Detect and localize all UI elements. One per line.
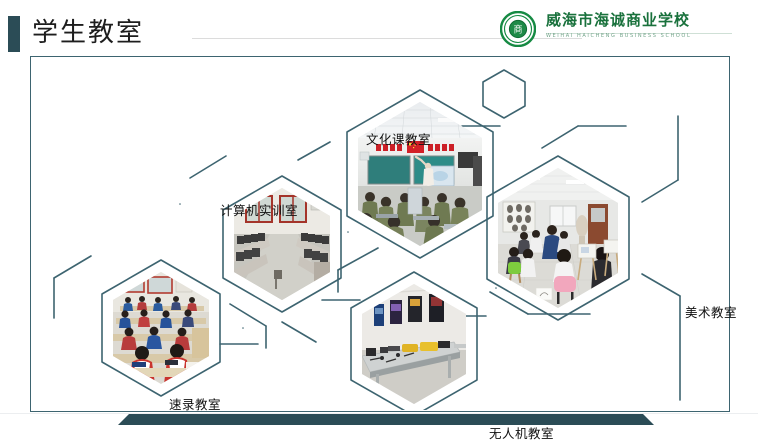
school-seal-icon: 商 — [500, 11, 536, 47]
photo-culture-class — [355, 102, 482, 249]
footer-band — [0, 412, 758, 424]
title-accent-bar — [8, 16, 20, 52]
hex-label-art-class: 美术教室 — [685, 305, 737, 321]
school-name: 威海市海诚商业学校 — [546, 10, 736, 30]
photo-drone-class — [362, 284, 466, 404]
hex-label-drone-class: 无人机教室 — [489, 426, 554, 442]
photo-stenography-class — [113, 272, 209, 384]
slide-root: 学生教室 商 威海市海诚商业学校 WEIHAI HAICHENG BUSINES… — [0, 0, 758, 424]
photo-art-class — [498, 168, 620, 308]
brand-text-group: 威海市海诚商业学校 WEIHAI HAICHENG BUSINESS SCHOO… — [546, 10, 736, 40]
classroom-hex-diagram: 文化课教室 计算机实训室 速录教室 无人机教室 美术教室 — [30, 56, 728, 410]
hex-label-stenography-class: 速录教室 — [169, 397, 221, 413]
page-title: 学生教室 — [32, 16, 144, 50]
hex-label-computer-lab: 计算机实训室 — [220, 203, 298, 219]
school-brand: 商 威海市海诚商业学校 WEIHAI HAICHENG BUSINESS SCH… — [500, 8, 740, 50]
hex-label-culture-class: 文化课教室 — [366, 132, 431, 148]
seal-char: 商 — [513, 24, 522, 36]
school-name-english: WEIHAI HAICHENG BUSINESS SCHOOL — [546, 32, 736, 40]
